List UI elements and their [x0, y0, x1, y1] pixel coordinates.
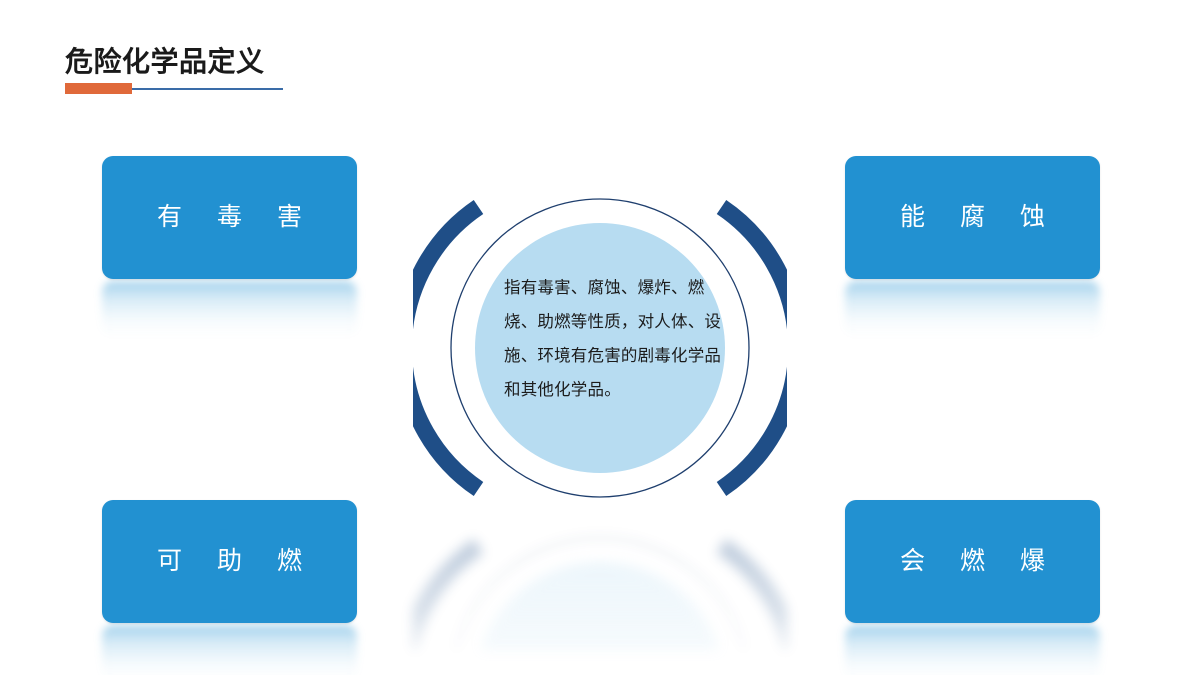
card-top-right-label: 能 腐 蚀 — [886, 205, 1059, 230]
card-reflection-top-right — [845, 281, 1100, 337]
slide-canvas: 危险化学品定义 有 毒 害 能 腐 蚀 可 助 燃 会 燃 爆 — [0, 0, 1200, 675]
card-bottom-right-label: 会 燃 爆 — [886, 549, 1059, 574]
page-title-block: 危险化学品定义 — [65, 44, 485, 104]
card-reflection-top-left — [102, 281, 357, 337]
card-top-right[interactable]: 能 腐 蚀 — [845, 156, 1100, 279]
card-top-left-label: 有 毒 害 — [143, 205, 316, 230]
card-reflection-bottom-right — [845, 625, 1100, 675]
card-bottom-left-label: 可 助 燃 — [143, 549, 316, 574]
center-description: 指有毒害、腐蚀、爆炸、燃烧、助燃等性质，对人体、设施、环境有危害的剧毒化学品和其… — [504, 271, 730, 407]
card-bottom-left[interactable]: 可 助 燃 — [102, 500, 357, 623]
card-top-left[interactable]: 有 毒 害 — [102, 156, 357, 279]
title-underline-orange — [65, 83, 132, 94]
center-circle: 指有毒害、腐蚀、爆炸、燃烧、助燃等性质，对人体、设施、环境有危害的剧毒化学品和其… — [413, 161, 787, 535]
ring-arc-left — [413, 207, 479, 489]
ring-arc-right — [722, 207, 788, 489]
card-reflection-bottom-left — [102, 625, 357, 675]
card-bottom-right[interactable]: 会 燃 爆 — [845, 500, 1100, 623]
page-title: 危险化学品定义 — [65, 44, 485, 80]
